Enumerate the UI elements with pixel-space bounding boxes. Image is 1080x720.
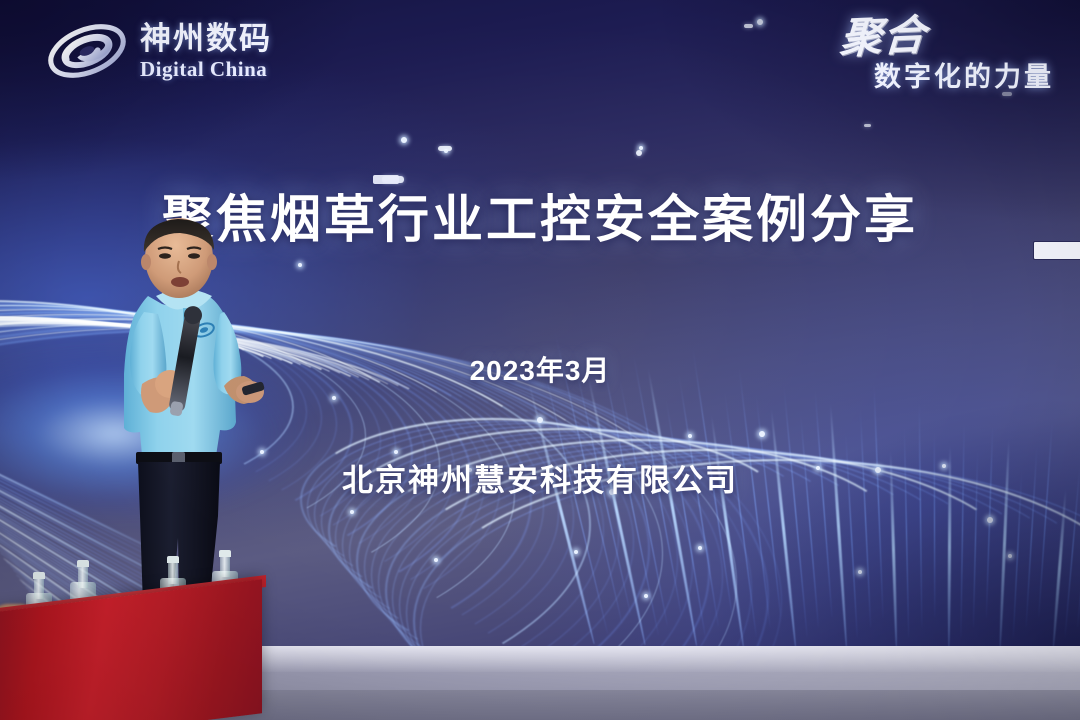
bottle-cap	[33, 572, 45, 579]
light-streak-fibre	[619, 379, 668, 626]
light-streak-fibre	[960, 421, 965, 638]
brand-wordmark: 神州数码 Digital China	[140, 23, 272, 80]
brand-name-cn: 神州数码	[140, 23, 272, 54]
conference-stage-photo: 神州数码 Digital China 聚合 数字化的力量 聚焦烟草行业工控安全案…	[0, 0, 1080, 720]
sparkle-dot	[1008, 554, 1012, 558]
bottle-neck	[34, 577, 44, 600]
light-streak-ribbon	[307, 421, 711, 593]
light-streak-fibre	[1052, 489, 1067, 648]
light-streak-ribbon	[300, 418, 684, 582]
bottle-cap	[219, 550, 231, 557]
presenter-eye-left	[159, 253, 171, 258]
bottle-neck	[168, 561, 178, 584]
brand-logo: 神州数码 Digital China	[44, 18, 272, 84]
presenter-eye-right	[188, 253, 200, 258]
bottle-cap	[167, 556, 179, 563]
star-dash	[744, 24, 753, 28]
light-streak-fibre	[874, 383, 884, 618]
star-dash	[1002, 92, 1012, 96]
sparkle-dot	[298, 263, 302, 267]
sparkle-dot	[858, 570, 862, 574]
light-streak-fibre	[665, 397, 706, 636]
light-streak-ribbon	[314, 423, 741, 605]
event-slogan: 聚合 数字化的力量	[840, 16, 1054, 91]
light-streak-fibre	[919, 402, 923, 628]
light-streak-fibre	[769, 410, 796, 648]
sparkle-dot	[394, 450, 398, 454]
sparkle-dot	[434, 558, 438, 562]
presenter-ear-right	[207, 254, 217, 270]
brand-name-en: Digital China	[140, 59, 272, 80]
light-streak-fibre	[587, 375, 647, 645]
sparkle-dot	[639, 146, 643, 150]
bottle-neck	[220, 555, 230, 578]
sparkle-dot	[537, 417, 543, 423]
light-streak-fibre	[1038, 420, 1053, 618]
light-streak-fibre	[724, 391, 757, 637]
light-streak-fibre	[815, 389, 833, 618]
light-streak-fibre	[829, 404, 848, 648]
bottle-cap	[77, 560, 89, 567]
sparkle-dot	[444, 149, 448, 153]
sparkle-dot	[759, 431, 765, 437]
sparkle-dot	[688, 434, 692, 438]
light-streak-fibre	[647, 368, 698, 646]
light-streak-fibre	[755, 395, 781, 618]
slogan-subtitle: 数字化的力量	[840, 64, 1054, 91]
light-streak-fibre	[527, 382, 595, 645]
digital-china-swirl-icon	[44, 18, 130, 84]
sparkle-dot	[332, 396, 336, 400]
bottle-neck	[78, 565, 88, 588]
star-dash	[864, 124, 871, 127]
light-streak-fibre	[710, 416, 744, 647]
sparkle-dot	[757, 19, 763, 25]
sparkle-dot	[644, 594, 648, 598]
presenter-mouth	[171, 277, 189, 287]
sparkle-dot	[574, 550, 578, 554]
sparkle-dot	[401, 137, 407, 143]
light-streak-fibre	[859, 408, 871, 628]
light-streak-fibre	[784, 385, 809, 638]
star-dash	[636, 150, 642, 156]
star-dash	[438, 146, 452, 151]
sparkle-dot	[350, 510, 354, 514]
sparkle-dot	[698, 546, 702, 550]
sparkle-dot	[987, 517, 993, 523]
slogan-brush-text: 聚合	[839, 14, 928, 60]
light-streak-fibre	[800, 414, 819, 628]
presenter-ear-left	[141, 254, 151, 270]
